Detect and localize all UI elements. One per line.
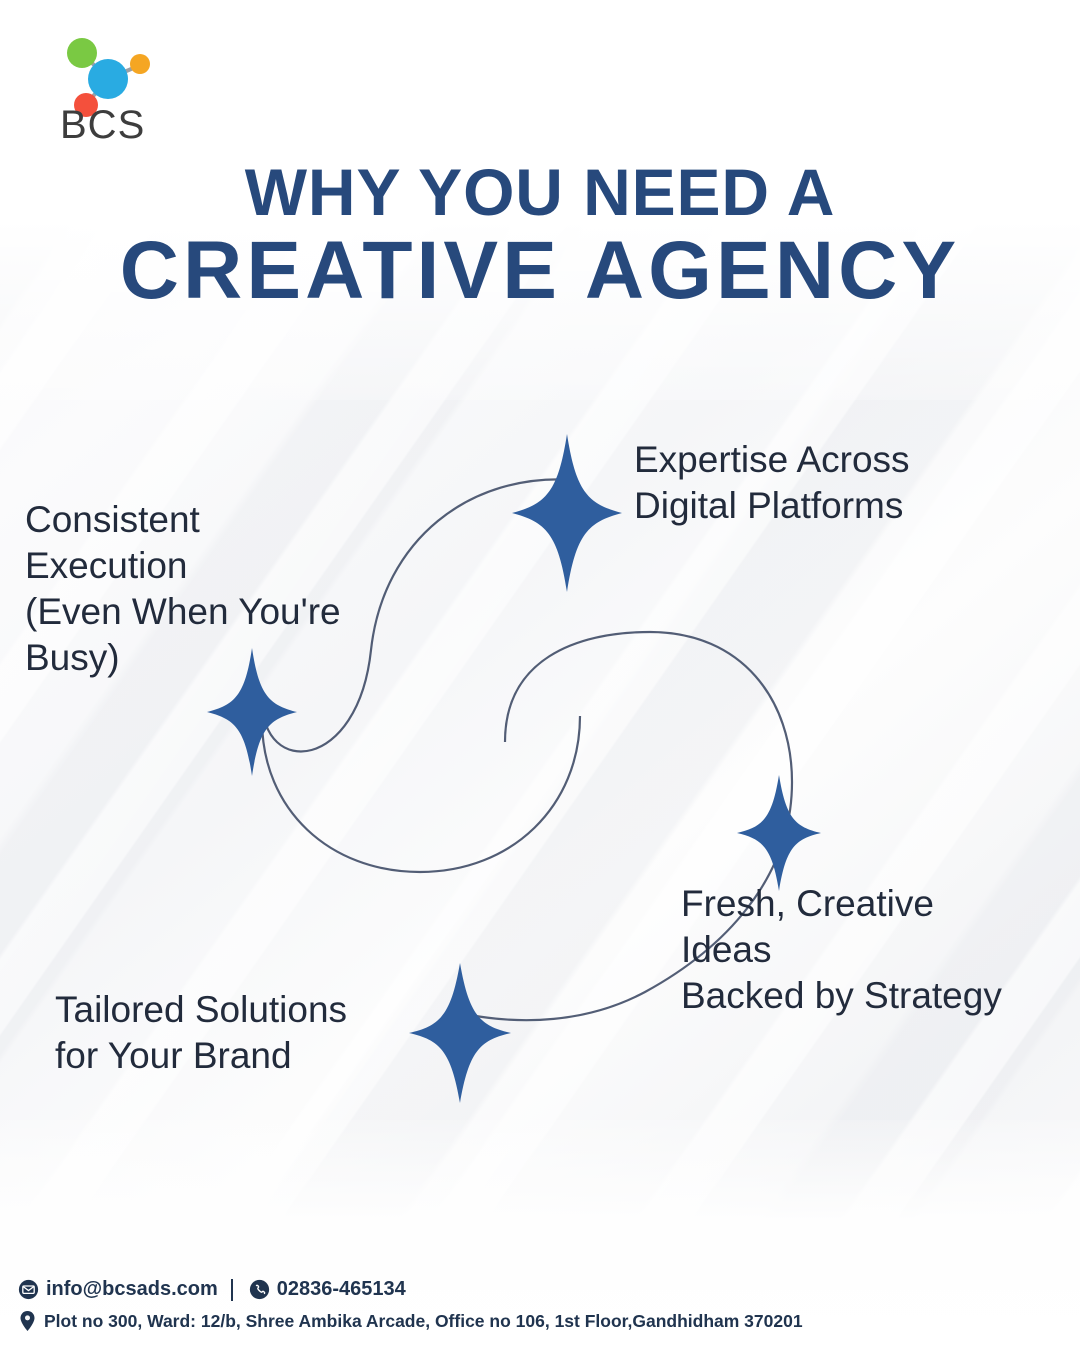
feature-label-tailored-solutions: Tailored Solutions for Your Brand (55, 987, 347, 1079)
feature-label-consistent-execution: Consistent Execution (Even When You're B… (25, 497, 341, 681)
molecule-icon: BCS (40, 14, 170, 144)
phone-icon (249, 1279, 270, 1300)
footer-row-address: Plot no 300, Ward: 12/b, Shree Ambika Ar… (18, 1310, 803, 1332)
brand-logo: BCS (40, 14, 170, 144)
footer-contact: info@bcsads.com 02836-465134 Plot no 300… (18, 1278, 803, 1332)
envelope-icon (18, 1279, 39, 1300)
feature-label-fresh-creative-ideas: Fresh, Creative Ideas Backed by Strategy (681, 881, 1002, 1019)
footer-separator (231, 1279, 233, 1301)
headline-line-1: WHY YOU NEED A (0, 160, 1080, 225)
poster-canvas: BCS WHY YOU NEED A CREATIVE AGENCY Exper… (0, 0, 1080, 1350)
location-pin-icon (18, 1310, 37, 1332)
footer-phone[interactable]: 02836-465134 (277, 1278, 406, 1301)
footer-address: Plot no 300, Ward: 12/b, Shree Ambika Ar… (44, 1311, 803, 1332)
headline-line-2: CREATIVE AGENCY (0, 231, 1080, 311)
footer-row-email-phone: info@bcsads.com 02836-465134 (18, 1278, 803, 1301)
logo-wordmark: BCS (60, 103, 145, 144)
feature-label-expertise: Expertise Across Digital Platforms (634, 437, 910, 529)
page-title: WHY YOU NEED A CREATIVE AGENCY (0, 160, 1080, 311)
footer-email[interactable]: info@bcsads.com (46, 1278, 218, 1301)
